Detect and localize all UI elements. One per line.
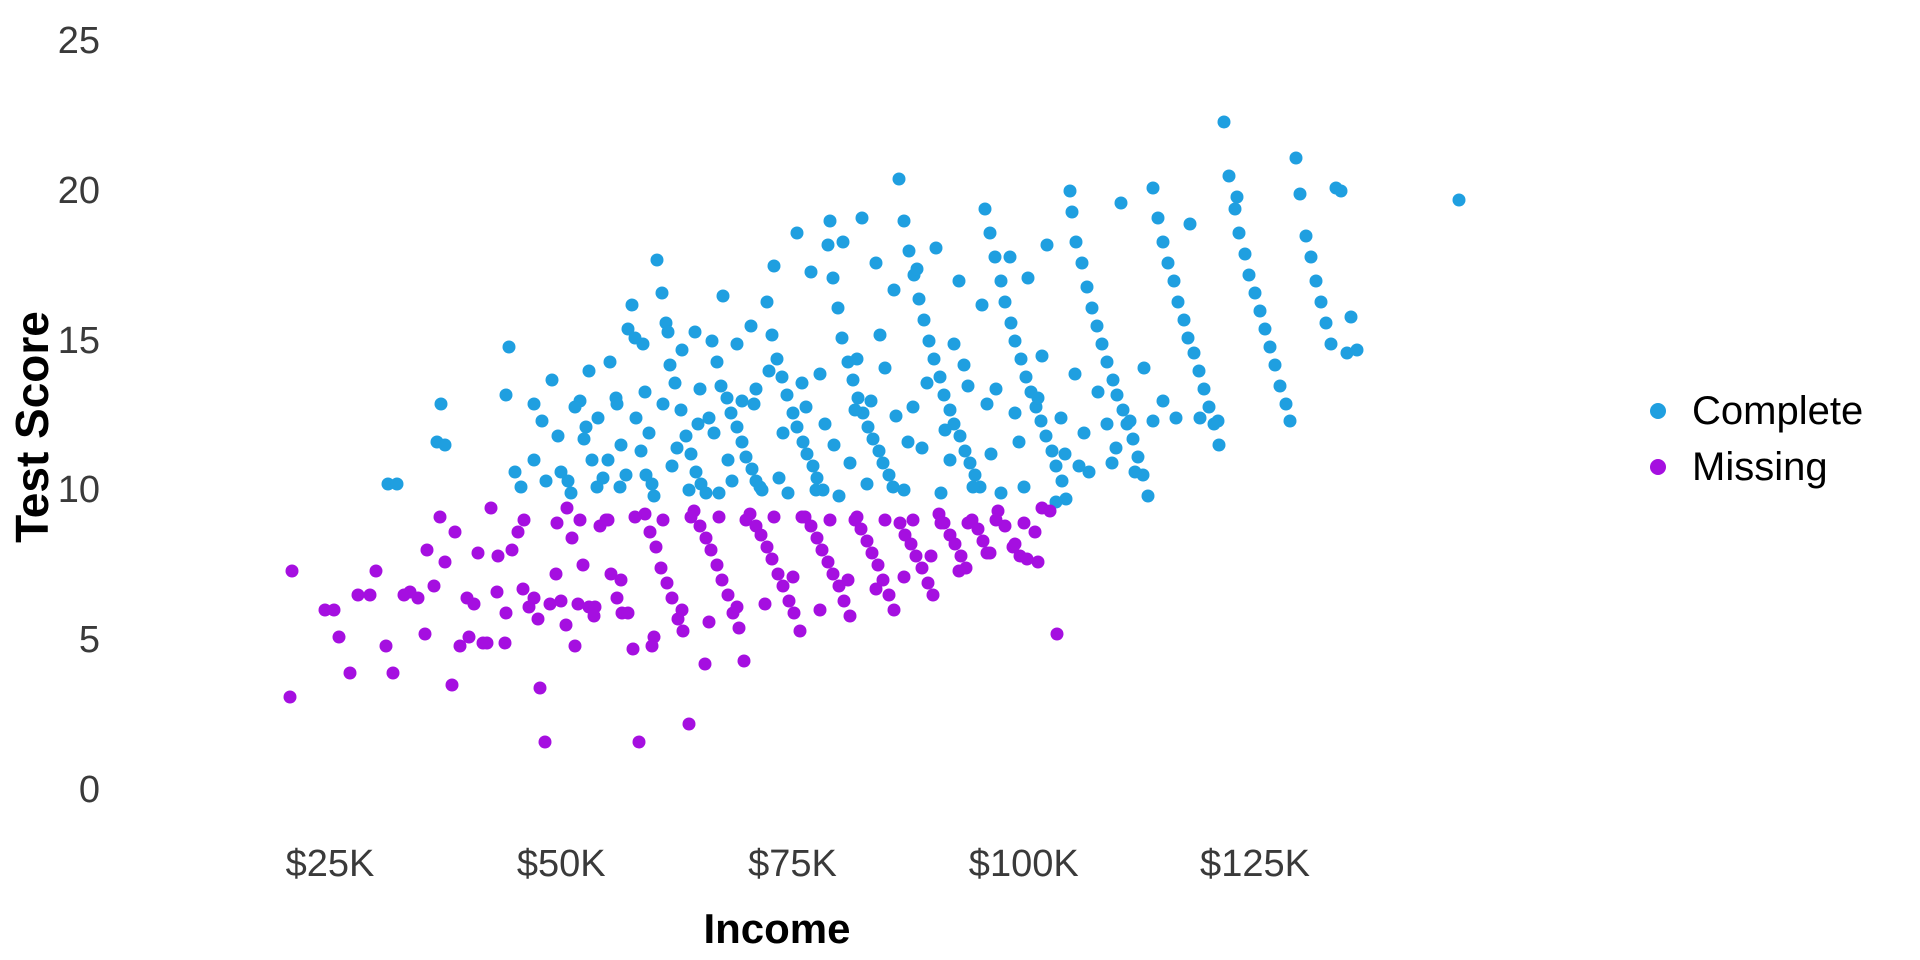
x-tick-label: $100K	[969, 845, 1079, 883]
x-tick-label: $75K	[748, 845, 837, 883]
x-tick-label: $50K	[517, 845, 606, 883]
scatter-chart: Test Score 0510152025 $25K$50K$75K$100K$…	[0, 0, 1920, 960]
legend-label: Missing	[1692, 447, 1828, 487]
x-tick-label: $125K	[1200, 845, 1310, 883]
x-axis-tick-labels: $25K$50K$75K$100K$125K	[0, 0, 1920, 960]
x-axis-title: Income	[0, 905, 1554, 953]
legend-label: Complete	[1692, 391, 1863, 431]
legend-item-complete[interactable]: Complete	[1650, 388, 1863, 434]
legend-item-missing[interactable]: Missing	[1650, 444, 1863, 490]
legend-swatch-icon	[1650, 403, 1666, 419]
x-tick-label: $25K	[286, 845, 375, 883]
legend-swatch-icon	[1650, 459, 1666, 475]
chart-legend: CompleteMissing	[1650, 388, 1863, 490]
